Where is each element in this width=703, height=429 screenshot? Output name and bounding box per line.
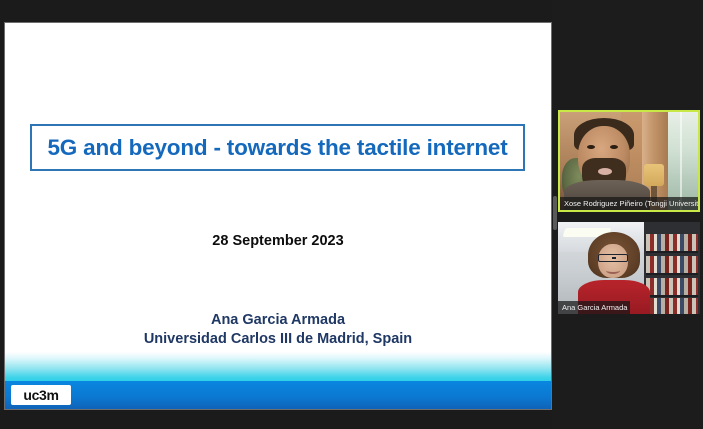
slide-affiliation: Universidad Carlos III de Madrid, Spain — [5, 330, 551, 349]
shared-screen-area[interactable]: 5G and beyond - towards the tactile inte… — [0, 0, 552, 429]
slide-date: 28 September 2023 — [5, 233, 551, 249]
page-title: 5G and beyond - towards the tactile inte… — [47, 135, 507, 161]
slide-author-name: Ana Garcia Armada — [5, 311, 551, 330]
presentation-slide: 5G and beyond - towards the tactile inte… — [5, 23, 551, 409]
slide-gradient-band — [5, 352, 551, 381]
uc3m-logo: uc3m — [11, 385, 71, 405]
filmstrip-scrollbar[interactable] — [553, 196, 557, 230]
participant-filmstrip[interactable]: Xose Rodriguez Piñeiro (Tongji Universit — [552, 0, 703, 429]
uc3m-logo-text: uc3m — [23, 388, 58, 402]
participant-video-tile[interactable]: Xose Rodriguez Piñeiro (Tongji Universit — [558, 110, 700, 212]
participant-video-tile[interactable]: Ana Garcia Armada — [558, 222, 700, 314]
participant-name-label: Xose Rodriguez Piñeiro (Tongji Universit — [560, 197, 698, 210]
slide-footer-band: uc3m — [5, 381, 551, 409]
meeting-window: 5G and beyond - towards the tactile inte… — [0, 0, 703, 429]
participant-name-label: Ana Garcia Armada — [558, 301, 630, 314]
slide-author-block: Ana Garcia Armada Universidad Carlos III… — [5, 311, 551, 349]
video-image-xose — [560, 112, 698, 210]
participant-video-feed — [560, 112, 698, 210]
slide-title-box: 5G and beyond - towards the tactile inte… — [30, 124, 525, 171]
